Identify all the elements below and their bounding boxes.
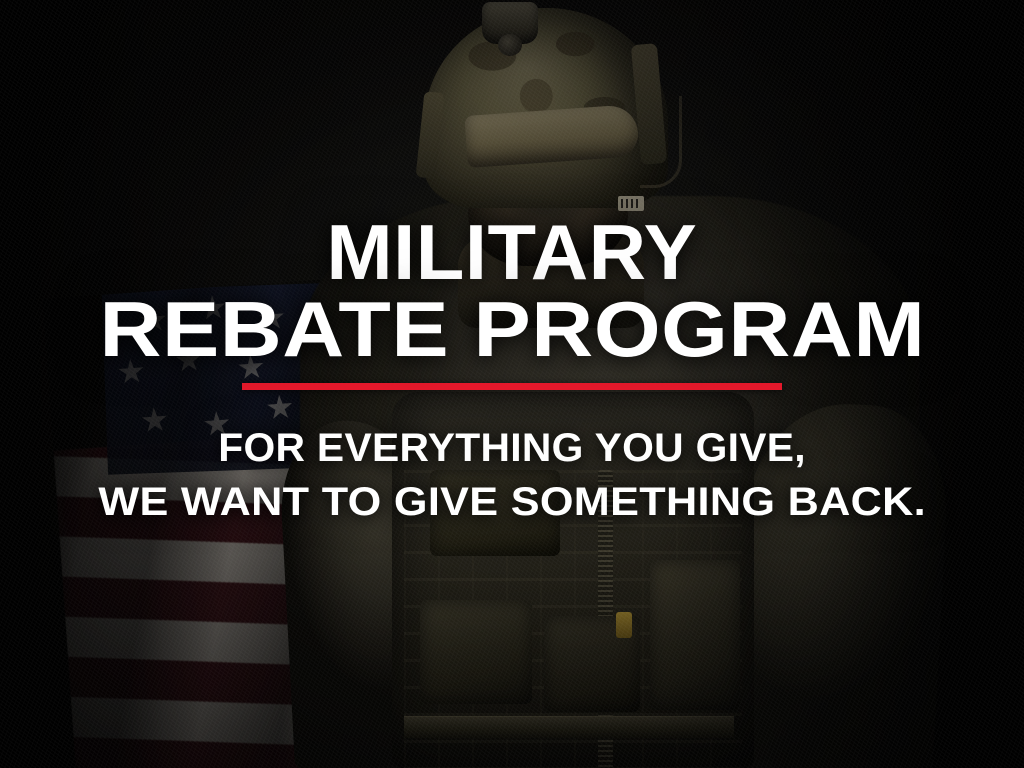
subheadline-line-1: FOR EVERYTHING YOU GIVE, xyxy=(218,428,806,468)
red-divider-rule xyxy=(242,383,782,390)
text-overlay: MILITARY REBATE PROGRAM FOR EVERYTHING Y… xyxy=(0,0,1024,768)
military-rebate-banner: MILITARY REBATE PROGRAM FOR EVERYTHING Y… xyxy=(0,0,1024,768)
subheadline-line-2: WE WANT TO GIVE SOMETHING BACK. xyxy=(98,482,926,522)
headline-line-1: MILITARY xyxy=(327,216,698,289)
headline-line-2: REBATE PROGRAM xyxy=(99,293,925,366)
